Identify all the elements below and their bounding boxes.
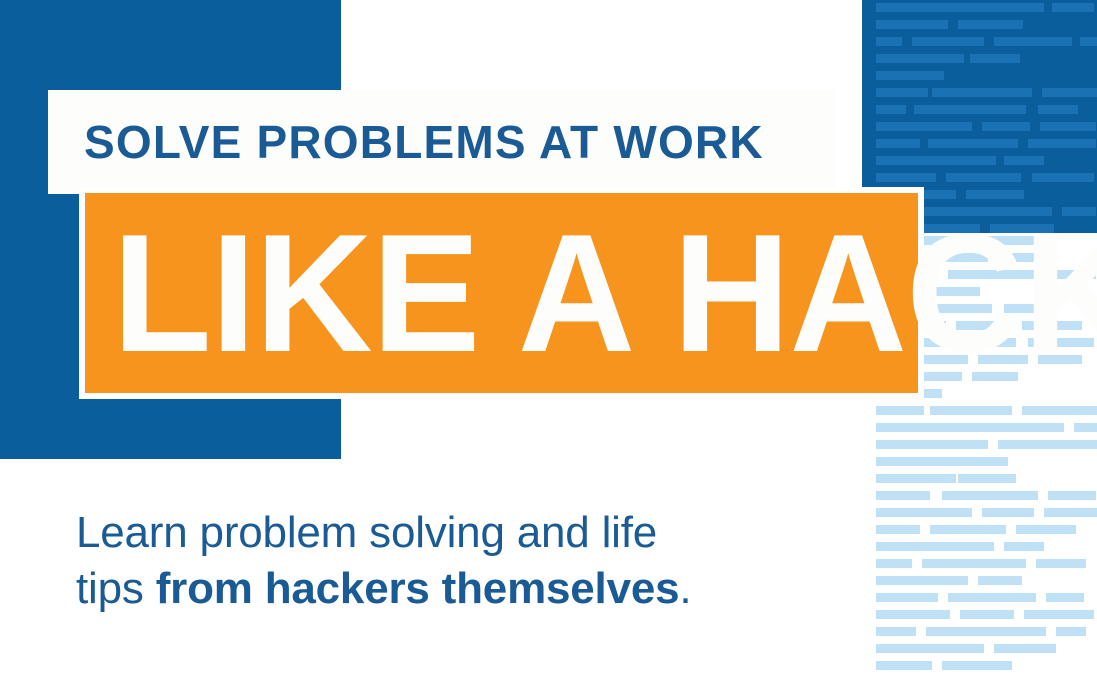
code-line-segment — [1056, 627, 1086, 636]
code-line-row — [862, 454, 1097, 471]
code-line-row — [862, 607, 1097, 624]
code-line-segment — [1016, 525, 1076, 534]
code-line-segment — [1048, 491, 1096, 500]
code-line-segment — [876, 3, 1044, 12]
code-line-segment — [1036, 559, 1086, 568]
code-line-row — [862, 641, 1097, 658]
code-line-segment — [876, 88, 928, 97]
code-line-segment — [876, 37, 902, 46]
code-line-segment — [876, 71, 944, 80]
code-line-segment — [1022, 406, 1097, 415]
headline-line-1: SOLVE PROBLEMS AT WORK — [48, 119, 764, 165]
code-line-row — [862, 170, 1097, 187]
code-line-row — [862, 136, 1097, 153]
code-line-row — [862, 539, 1097, 556]
subtitle-line-2-regular: tips — [76, 564, 156, 613]
code-line-segment — [958, 474, 1016, 483]
code-line-segment — [952, 423, 1064, 432]
code-line-segment — [1004, 156, 1044, 165]
code-line-segment — [876, 457, 1008, 466]
code-line-row — [862, 153, 1097, 170]
code-line-segment — [1074, 423, 1097, 432]
code-line-segment — [1044, 508, 1097, 517]
code-line-segment — [998, 440, 1097, 449]
code-line-segment — [926, 627, 1046, 636]
code-line-segment — [912, 37, 984, 46]
code-line-row — [862, 34, 1097, 51]
code-line-segment — [876, 559, 912, 568]
code-line-segment — [876, 627, 916, 636]
code-line-segment — [1040, 122, 1096, 131]
code-line-row — [862, 420, 1097, 437]
code-line-row — [862, 0, 1097, 17]
code-line-segment — [876, 474, 956, 483]
code-line-segment — [1004, 542, 1044, 551]
code-line-segment — [948, 593, 1036, 602]
code-line-segment — [876, 661, 932, 670]
code-line-segment — [946, 173, 1021, 182]
code-line-row — [862, 522, 1097, 539]
code-line-segment — [1042, 88, 1097, 97]
poster-canvas: SOLVE PROBLEMS AT WORK LIKE A HACKER Lea… — [0, 0, 1097, 687]
code-line-segment — [876, 593, 938, 602]
code-line-segment — [982, 508, 1034, 517]
code-line-segment — [970, 54, 1020, 63]
code-line-segment — [1028, 139, 1096, 148]
code-line-segment — [914, 105, 1026, 114]
code-line-row — [862, 119, 1097, 136]
code-line-row — [862, 68, 1097, 85]
code-line-row — [862, 85, 1097, 102]
code-line-segment — [1032, 173, 1094, 182]
code-line-segment — [876, 576, 968, 585]
code-line-segment — [942, 661, 1012, 670]
code-line-row — [862, 471, 1097, 488]
subtitle-line-2-period: . — [679, 564, 691, 613]
code-line-segment — [994, 644, 1056, 653]
code-line-segment — [994, 37, 1072, 46]
code-line-segment — [876, 491, 930, 500]
headline-line-2: LIKE A HACKER — [85, 221, 1097, 365]
code-line-segment — [876, 20, 948, 29]
code-line-row — [862, 624, 1097, 641]
code-line-segment — [876, 156, 996, 165]
subtitle-line-2-bold: from hackers themselves — [156, 564, 680, 613]
code-line-segment — [932, 88, 1032, 97]
code-line-row — [862, 556, 1097, 573]
headline-main-banner: LIKE A HACKER — [85, 193, 918, 393]
code-line-segment — [876, 139, 920, 148]
code-line-segment — [978, 576, 1022, 585]
code-line-segment — [982, 122, 1030, 131]
code-line-segment — [1038, 105, 1078, 114]
code-line-segment — [876, 173, 936, 182]
code-line-row — [862, 505, 1097, 522]
code-line-segment — [1080, 37, 1097, 46]
code-line-row — [862, 403, 1097, 420]
subtitle-line-2: tips from hackers themselves. — [76, 561, 816, 617]
code-line-row — [862, 658, 1097, 675]
code-line-segment — [928, 139, 1018, 148]
code-line-segment — [876, 644, 984, 653]
code-line-segment — [942, 491, 1038, 500]
headline-top-banner: SOLVE PROBLEMS AT WORK — [48, 90, 836, 194]
code-line-segment — [876, 508, 972, 517]
code-line-row — [862, 488, 1097, 505]
code-line-segment — [1052, 3, 1094, 12]
code-line-segment — [966, 190, 1024, 199]
code-line-segment — [876, 122, 972, 131]
code-line-segment — [922, 559, 1026, 568]
code-line-segment — [876, 423, 954, 432]
code-line-row — [862, 17, 1097, 34]
subtitle: Learn problem solving and life tips from… — [76, 505, 816, 618]
code-line-row — [862, 102, 1097, 119]
code-line-segment — [876, 406, 924, 415]
code-line-row — [862, 51, 1097, 68]
code-line-segment — [876, 54, 964, 63]
code-line-row — [862, 590, 1097, 607]
code-line-segment — [930, 406, 1012, 415]
code-line-segment — [1024, 610, 1094, 619]
code-line-segment — [876, 525, 920, 534]
code-line-segment — [876, 610, 950, 619]
code-line-segment — [958, 20, 1023, 29]
code-line-segment — [960, 610, 1014, 619]
code-line-segment — [876, 542, 994, 551]
code-line-row — [862, 573, 1097, 590]
code-line-segment — [930, 525, 1006, 534]
subtitle-line-1: Learn problem solving and life — [76, 505, 816, 561]
code-line-segment — [876, 440, 988, 449]
code-line-row — [862, 437, 1097, 454]
code-line-segment — [876, 105, 906, 114]
code-line-segment — [1046, 593, 1084, 602]
